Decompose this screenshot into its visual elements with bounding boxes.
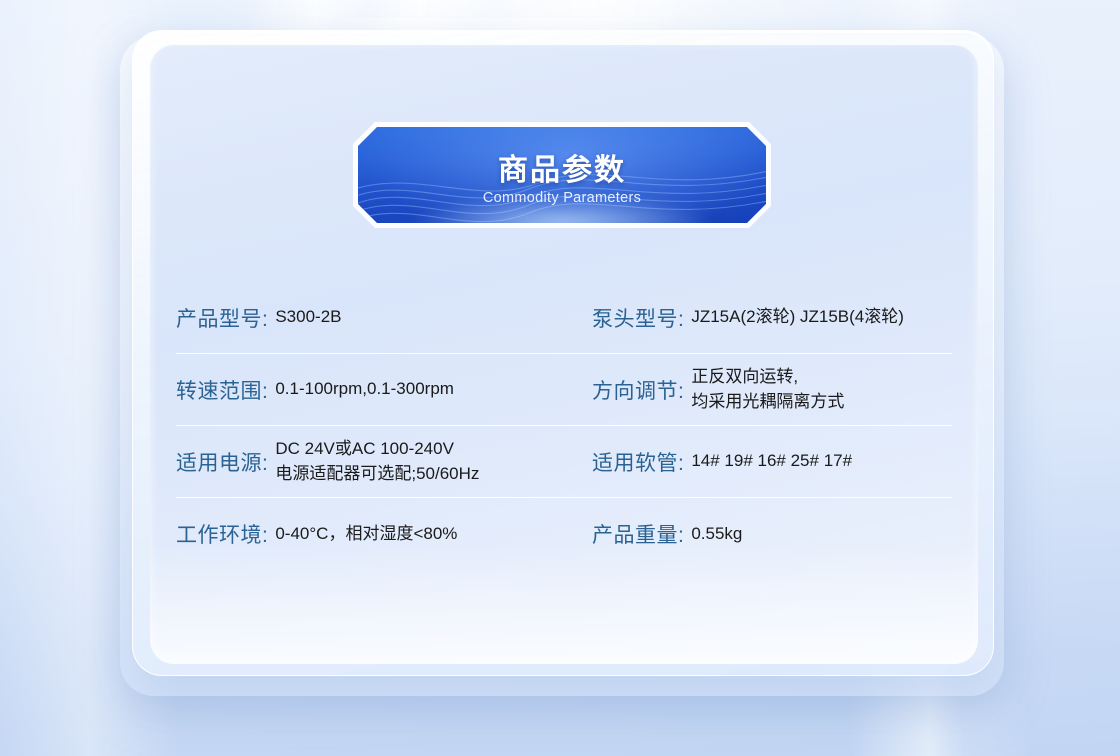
spec-cell-right: 适用软管:14# 19# 16# 25# 17# xyxy=(564,426,952,497)
spec-label: 适用电源: xyxy=(176,447,268,477)
spec-label: 转速范围: xyxy=(176,375,268,405)
spec-value-line: 0.55kg xyxy=(691,522,742,546)
spec-value: DC 24V或AC 100-240V电源适配器可选配;50/60Hz xyxy=(275,437,479,485)
product-spec-page: 商品参数 Commodity Parameters 产品型号:S300-2B泵头… xyxy=(0,0,1120,756)
spec-label: 产品型号: xyxy=(176,303,268,333)
spec-value-line: 均采用光耦隔离方式 xyxy=(691,390,844,414)
spec-label: 产品重量: xyxy=(592,519,684,549)
spec-value-line: DC 24V或AC 100-240V xyxy=(275,437,479,461)
spec-value: 0-40°C，相对湿度<80% xyxy=(275,522,457,546)
spec-cell-left: 转速范围:0.1-100rpm,0.1-300rpm xyxy=(176,354,564,425)
spec-value-line: 0.1-100rpm,0.1-300rpm xyxy=(275,377,454,401)
spec-label: 工作环境: xyxy=(176,519,268,549)
spec-label: 适用软管: xyxy=(592,447,684,477)
banner-title-cn: 商品参数 xyxy=(498,145,626,189)
banner-text-group: 商品参数 Commodity Parameters xyxy=(358,127,766,223)
spec-value: 0.55kg xyxy=(691,522,742,546)
spec-value-line: 正反双向运转, xyxy=(691,365,844,389)
spec-row: 转速范围:0.1-100rpm,0.1-300rpm方向调节:正反双向运转,均采… xyxy=(176,354,952,426)
spec-value: 正反双向运转,均采用光耦隔离方式 xyxy=(691,365,844,413)
spec-label: 方向调节: xyxy=(592,375,684,405)
spec-label: 泵头型号: xyxy=(592,303,684,333)
spec-value: JZ15A(2滚轮) JZ15B(4滚轮) xyxy=(691,305,904,329)
spec-value: 0.1-100rpm,0.1-300rpm xyxy=(275,377,454,401)
spec-cell-right: 方向调节:正反双向运转,均采用光耦隔离方式 xyxy=(564,354,952,425)
spec-value-line: 0-40°C，相对湿度<80% xyxy=(275,522,457,546)
spec-cell-right: 泵头型号:JZ15A(2滚轮) JZ15B(4滚轮) xyxy=(564,282,952,353)
spec-value-line: 电源适配器可选配;50/60Hz xyxy=(275,462,479,486)
spec-row: 产品型号:S300-2B泵头型号:JZ15A(2滚轮) JZ15B(4滚轮) xyxy=(176,282,952,354)
spec-cell-left: 工作环境:0-40°C，相对湿度<80% xyxy=(176,498,564,570)
spec-value: S300-2B xyxy=(275,305,341,329)
spec-cell-left: 适用电源:DC 24V或AC 100-240V电源适配器可选配;50/60Hz xyxy=(176,426,564,497)
spec-row: 工作环境:0-40°C，相对湿度<80%产品重量:0.55kg xyxy=(176,498,952,570)
banner-title-en: Commodity Parameters xyxy=(483,190,641,206)
spec-value-line: S300-2B xyxy=(275,305,341,329)
spec-value-line: 14# 19# 16# 25# 17# xyxy=(691,449,852,473)
banner-plate: 商品参数 Commodity Parameters xyxy=(358,127,766,223)
section-banner: 商品参数 Commodity Parameters xyxy=(353,122,771,228)
spec-cell-right: 产品重量:0.55kg xyxy=(564,498,952,570)
spec-value: 14# 19# 16# 25# 17# xyxy=(691,449,852,473)
spec-value-line: JZ15A(2滚轮) JZ15B(4滚轮) xyxy=(691,305,904,329)
spec-row: 适用电源:DC 24V或AC 100-240V电源适配器可选配;50/60Hz适… xyxy=(176,426,952,498)
spec-cell-left: 产品型号:S300-2B xyxy=(176,282,564,353)
spec-table: 产品型号:S300-2B泵头型号:JZ15A(2滚轮) JZ15B(4滚轮)转速… xyxy=(176,282,952,570)
